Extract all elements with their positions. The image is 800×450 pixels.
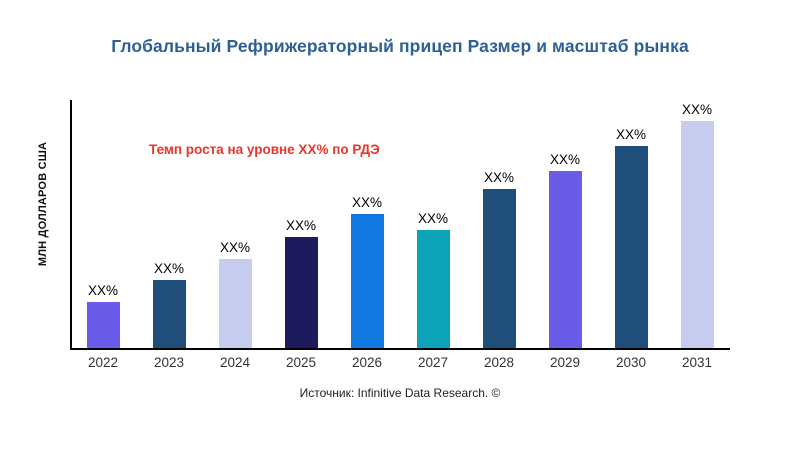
bar[interactable] xyxy=(153,280,186,348)
x-axis-tick-label: 2025 xyxy=(268,355,334,370)
bar-value-label: XX% xyxy=(664,102,730,117)
x-axis-tick-label: 2026 xyxy=(334,355,400,370)
chart-figure: Глобальный Рефрижераторный прицеп Размер… xyxy=(0,0,800,450)
bar-group: XX%2024 xyxy=(202,100,268,348)
x-axis-tick-label: 2023 xyxy=(136,355,202,370)
x-axis-tick-label: 2028 xyxy=(466,355,532,370)
bar[interactable] xyxy=(417,230,450,348)
bar-group: XX%2022 xyxy=(70,100,136,348)
bar-value-label: XX% xyxy=(202,240,268,255)
chart-title: Глобальный Рефрижераторный прицеп Размер… xyxy=(0,36,800,57)
bar-value-label: XX% xyxy=(466,170,532,185)
bar-value-label: XX% xyxy=(70,283,136,298)
bar[interactable] xyxy=(549,171,582,349)
bar-value-label: XX% xyxy=(532,152,598,167)
x-axis-tick-label: 2024 xyxy=(202,355,268,370)
bar-group: XX%2030 xyxy=(598,100,664,348)
bar[interactable] xyxy=(615,146,648,348)
bar-group: XX%2026 xyxy=(334,100,400,348)
x-axis-tick-label: 2031 xyxy=(664,355,730,370)
bar[interactable] xyxy=(87,302,120,349)
bar-group: XX%2028 xyxy=(466,100,532,348)
x-axis-tick-label: 2022 xyxy=(70,355,136,370)
bar-value-label: XX% xyxy=(268,218,334,233)
bar-group: XX%2031 xyxy=(664,100,730,348)
plot-area: XX%2022XX%2023XX%2024XX%2025XX%2026XX%20… xyxy=(70,100,730,350)
bar[interactable] xyxy=(681,121,714,348)
x-axis-tick-label: 2030 xyxy=(598,355,664,370)
bar-value-label: XX% xyxy=(598,127,664,142)
bar-value-label: XX% xyxy=(334,195,400,210)
bar-group: XX%2029 xyxy=(532,100,598,348)
source-note: Источник: Infinitive Data Research. © xyxy=(0,386,800,400)
bar[interactable] xyxy=(351,214,384,349)
bar-group: XX%2023 xyxy=(136,100,202,348)
bar-value-label: XX% xyxy=(400,211,466,226)
bar-group: XX%2027 xyxy=(400,100,466,348)
y-axis-label: МЛН ДОЛЛАРОВ США xyxy=(37,74,49,334)
x-axis-tick-label: 2029 xyxy=(532,355,598,370)
x-axis-tick-label: 2027 xyxy=(400,355,466,370)
bar-value-label: XX% xyxy=(136,261,202,276)
bar-group: XX%2025 xyxy=(268,100,334,348)
bar[interactable] xyxy=(483,189,516,349)
bar[interactable] xyxy=(285,237,318,348)
x-axis-line xyxy=(70,348,730,350)
bar[interactable] xyxy=(219,259,252,348)
